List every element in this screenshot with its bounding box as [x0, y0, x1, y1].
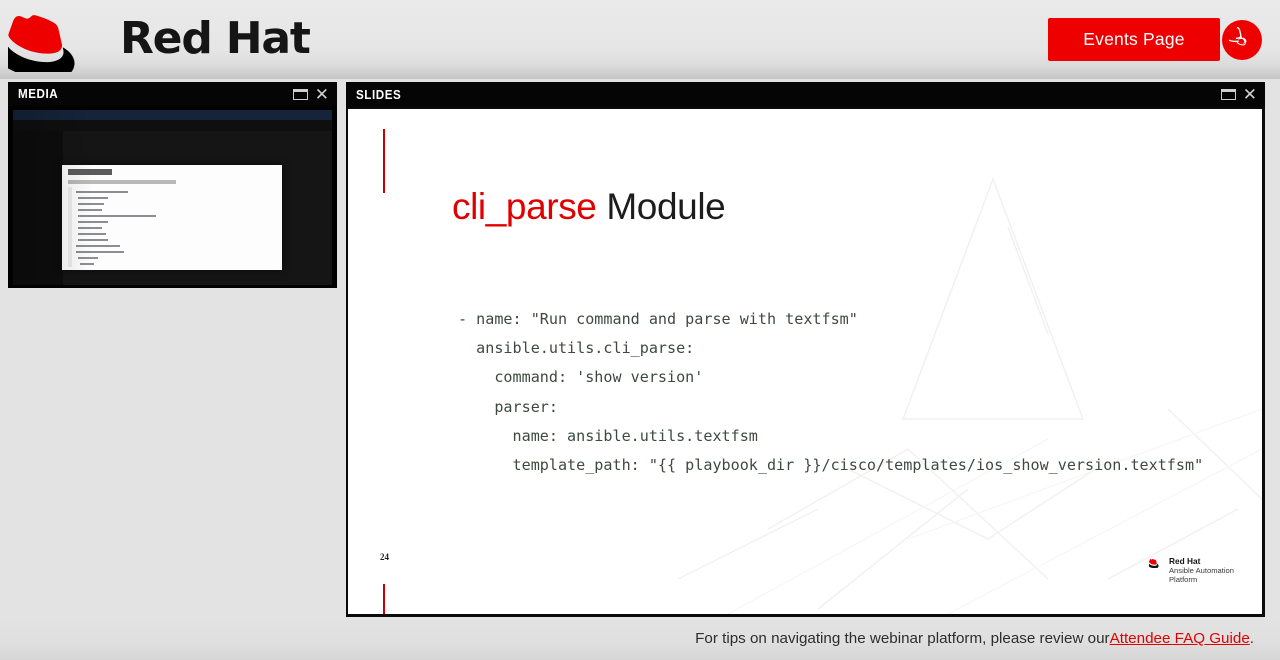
brand-name: Red Hat: [120, 17, 310, 61]
shadowman-glyph-icon: [1229, 27, 1255, 53]
restore-window-icon[interactable]: [1221, 89, 1236, 100]
webinar-console: Red Hat Events Page MEDIA ✕: [0, 0, 1280, 660]
slides-panel-title: SLIDES: [356, 88, 401, 102]
logo-product-line-2: Platform: [1169, 576, 1234, 585]
slide-accent-line-top: [383, 129, 385, 193]
attendee-faq-guide-link[interactable]: Attendee FAQ Guide: [1110, 630, 1250, 647]
slides-window-controls: ✕: [1221, 86, 1257, 103]
page-header: Red Hat Events Page: [0, 0, 1280, 79]
redhat-shadowman-hat-icon: [1149, 557, 1164, 568]
events-page-button[interactable]: Events Page: [1048, 18, 1220, 61]
slide-accent-line-bottom: [383, 584, 385, 614]
slide-title-rest: Module: [596, 186, 725, 227]
redhat-shadowman-hat-icon: [8, 6, 112, 72]
slide-canvas: cli_parse Module - name: "Run command an…: [348, 109, 1262, 614]
slides-panel: SLIDES ✕: [346, 82, 1265, 617]
logo-text: Red Hat Ansible Automation Platform: [1169, 557, 1234, 585]
redhat-shadowman-circle-icon[interactable]: [1222, 20, 1262, 60]
close-icon[interactable]: ✕: [1243, 86, 1257, 103]
media-video-area[interactable]: [8, 106, 337, 288]
media-panel-titlebar: MEDIA ✕: [8, 82, 337, 106]
footer-text-after: .: [1250, 630, 1254, 647]
footer-tip-bar: For tips on navigating the webinar platf…: [0, 617, 1280, 660]
media-panel: MEDIA ✕: [8, 82, 337, 288]
media-panel-title: MEDIA: [18, 87, 58, 101]
slide-title-highlight: cli_parse: [452, 186, 596, 227]
restore-window-icon[interactable]: [293, 89, 308, 100]
slide-page-number: 24: [380, 552, 389, 562]
ansible-automation-platform-logo: Red Hat Ansible Automation Platform: [1149, 557, 1234, 585]
slide-code-block: - name: "Run command and parse with text…: [458, 305, 1203, 480]
thumb-vignette: [13, 110, 332, 285]
media-thumbnail: [13, 110, 332, 285]
slide-viewport[interactable]: cli_parse Module - name: "Run command an…: [346, 107, 1265, 617]
media-window-controls: ✕: [293, 86, 329, 103]
close-icon[interactable]: ✕: [315, 86, 329, 103]
slide-title: cli_parse Module: [452, 186, 725, 228]
slides-panel-titlebar: SLIDES ✕: [346, 82, 1265, 107]
footer-text-before: For tips on navigating the webinar platf…: [695, 630, 1110, 647]
brand: Red Hat: [8, 6, 310, 72]
